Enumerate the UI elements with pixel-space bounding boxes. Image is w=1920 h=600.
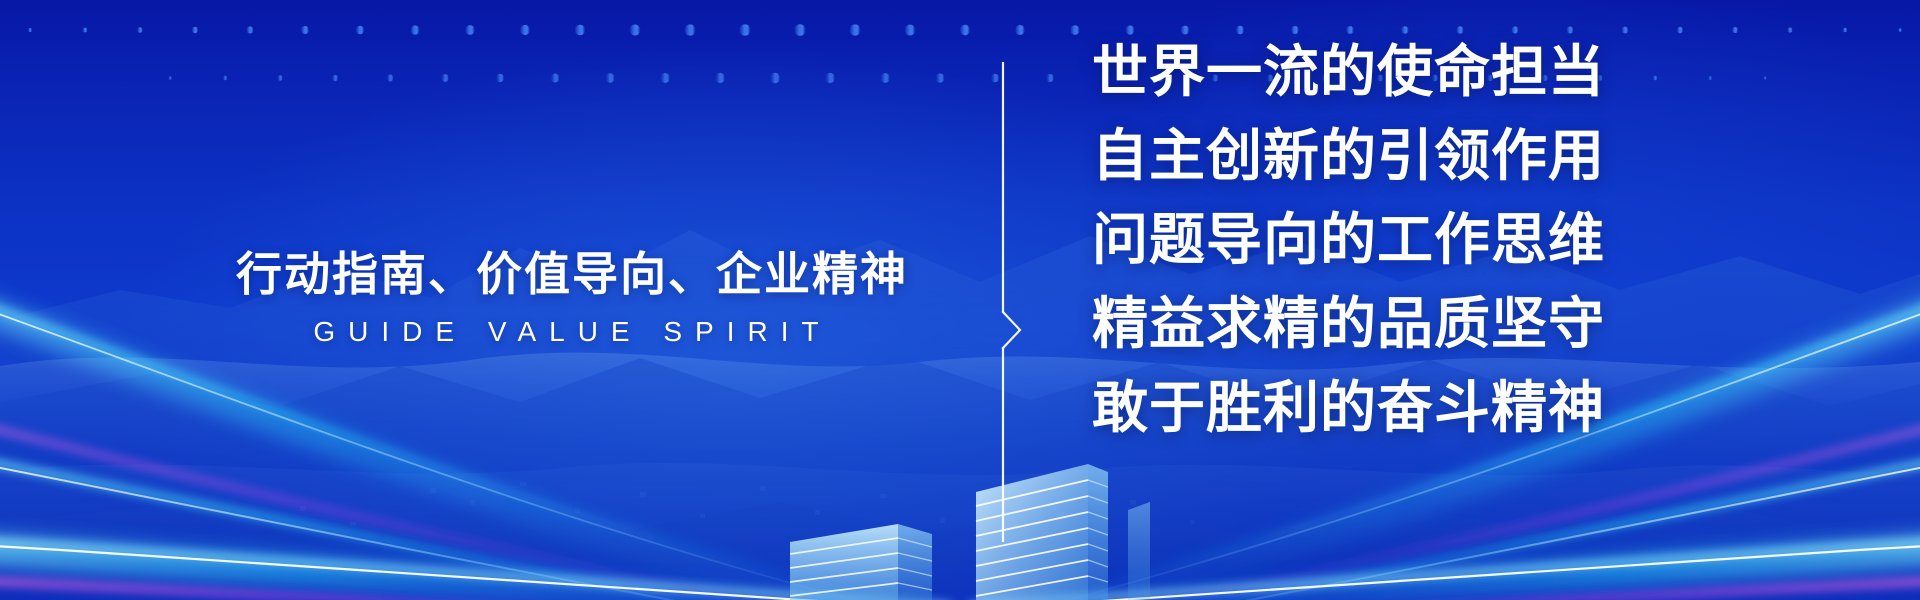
slogan-line-1: 世界一流的使命担当	[1092, 44, 1712, 100]
city-buildings-graphic	[790, 450, 1150, 600]
left-text-panel: 行动指南、价值导向、企业精神 GUIDE VALUE SPIRIT	[236, 248, 896, 348]
chevron-right-icon	[1003, 312, 1020, 348]
left-panel-title: 行动指南、价值导向、企业精神	[236, 248, 896, 300]
slogan-line-4: 精益求精的品质坚守	[1092, 296, 1712, 352]
slogan-line-5: 敢于胜利的奋斗精神	[1092, 380, 1712, 436]
section-divider	[1000, 62, 1030, 542]
culture-banner: 行动指南、价值导向、企业精神 GUIDE VALUE SPIRIT 世界一流的使…	[0, 0, 1920, 600]
left-panel-subtitle: GUIDE VALUE SPIRIT	[236, 316, 896, 348]
slogan-line-2: 自主创新的引领作用	[1092, 128, 1712, 184]
slogan-line-3: 问题导向的工作思维	[1092, 212, 1712, 268]
right-text-panel: 世界一流的使命担当 自主创新的引领作用 问题导向的工作思维 精益求精的品质坚守 …	[1092, 44, 1712, 436]
